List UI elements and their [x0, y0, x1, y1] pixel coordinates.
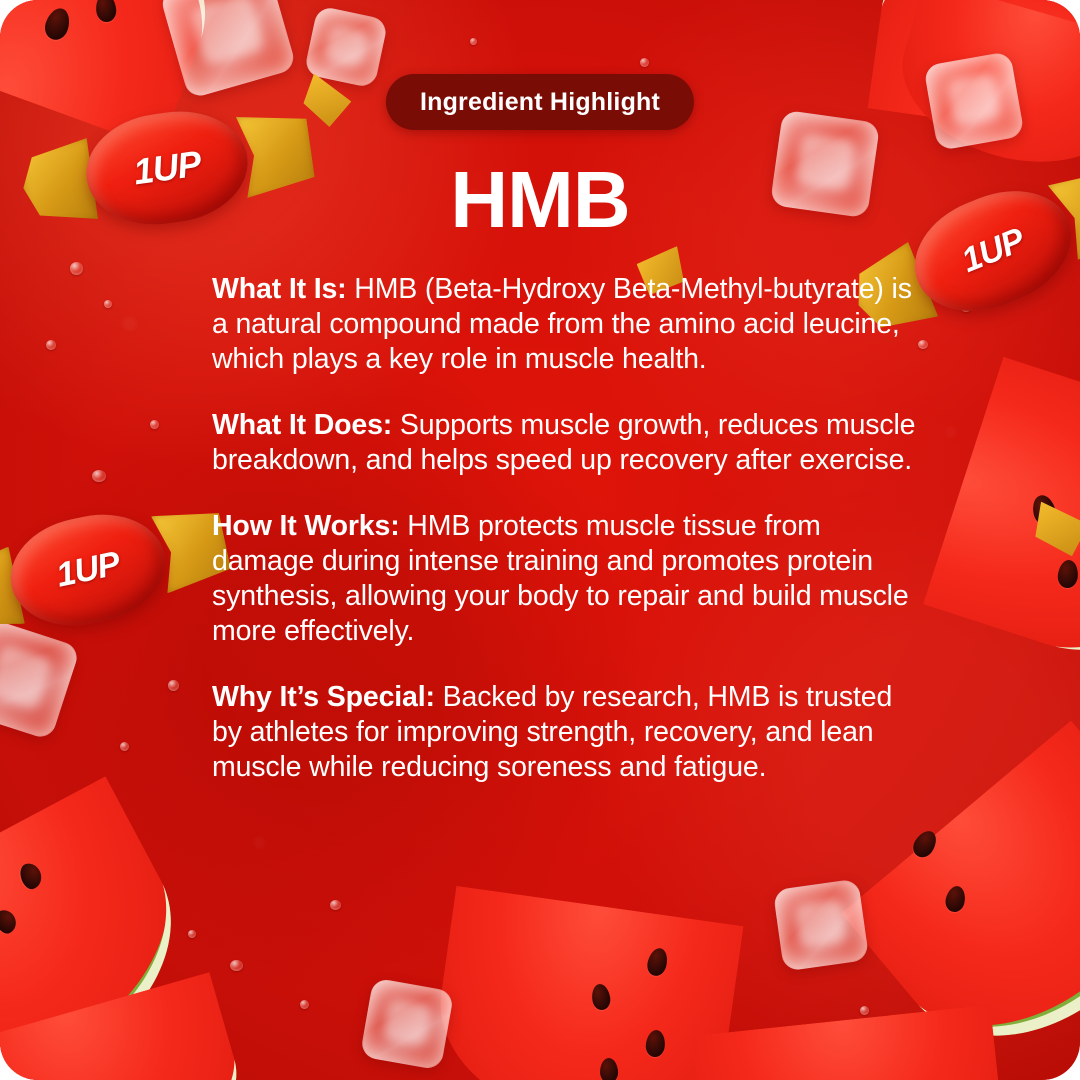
content-layer: Ingredient Highlight HMB What It Is: HMB… [0, 0, 1080, 1080]
section-why-its-special: Why It’s Special: Backed by research, HM… [212, 680, 918, 785]
section-how-it-works: How It Works: HMB protects muscle tissue… [212, 509, 918, 649]
body-copy: What It Is: HMB (Beta-Hydroxy Beta-Methy… [212, 272, 918, 785]
section-what-it-is: What It Is: HMB (Beta-Hydroxy Beta-Methy… [212, 272, 918, 377]
section-what-it-does: What It Does: Supports muscle growth, re… [212, 408, 918, 478]
ingredient-highlight-card: 1UP 1UP 1UP Ingredient Highlight HMB Wha… [0, 0, 1080, 1080]
section-lead: What It Is: [212, 273, 347, 305]
badge-label: Ingredient Highlight [420, 88, 660, 117]
page-title: HMB [0, 160, 1080, 240]
section-lead: How It Works: [212, 510, 400, 542]
section-lead: What It Does: [212, 409, 392, 441]
ingredient-highlight-badge: Ingredient Highlight [386, 74, 694, 130]
section-lead: Why It’s Special: [212, 681, 435, 713]
